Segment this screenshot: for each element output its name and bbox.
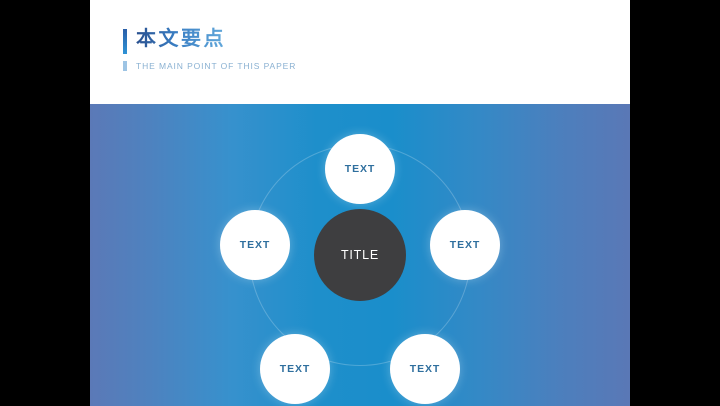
diagram-node-label: TEXT — [280, 363, 310, 375]
page-title: 本文要点 — [136, 26, 226, 52]
diagram-node-lower-left[interactable]: TEXT — [260, 334, 330, 404]
diagram-node-upper-right[interactable]: TEXT — [430, 210, 500, 280]
letterbox-left — [0, 0, 90, 406]
letterbox-right — [630, 0, 720, 406]
diagram-node-label: TEXT — [410, 363, 440, 375]
circular-diagram: TEXT TEXT TEXT TEXT TEXT TITLE — [90, 104, 630, 406]
diagram-center-node[interactable]: TITLE — [314, 209, 406, 301]
video-stage: 本文要点 THE MAIN POINT OF THIS PAPER TEXT T… — [0, 0, 720, 406]
diagram-node-upper-left[interactable]: TEXT — [220, 210, 290, 280]
diagram-node-label: TEXT — [450, 239, 480, 251]
title-row: 本文要点 — [123, 26, 296, 54]
diagram-node-label: TEXT — [345, 163, 375, 175]
subtitle-row: THE MAIN POINT OF THIS PAPER — [123, 61, 296, 71]
page-subtitle: THE MAIN POINT OF THIS PAPER — [136, 61, 296, 71]
title-block: 本文要点 THE MAIN POINT OF THIS PAPER — [123, 26, 296, 71]
slide-header: 本文要点 THE MAIN POINT OF THIS PAPER — [90, 0, 630, 104]
accent-bar-icon — [123, 29, 127, 54]
accent-bar-small-icon — [123, 61, 127, 71]
diagram-node-lower-right[interactable]: TEXT — [390, 334, 460, 404]
presentation-slide: 本文要点 THE MAIN POINT OF THIS PAPER TEXT T… — [90, 0, 630, 406]
diagram-node-top[interactable]: TEXT — [325, 134, 395, 204]
diagram-node-label: TEXT — [240, 239, 270, 251]
diagram-center-label: TITLE — [341, 248, 379, 262]
